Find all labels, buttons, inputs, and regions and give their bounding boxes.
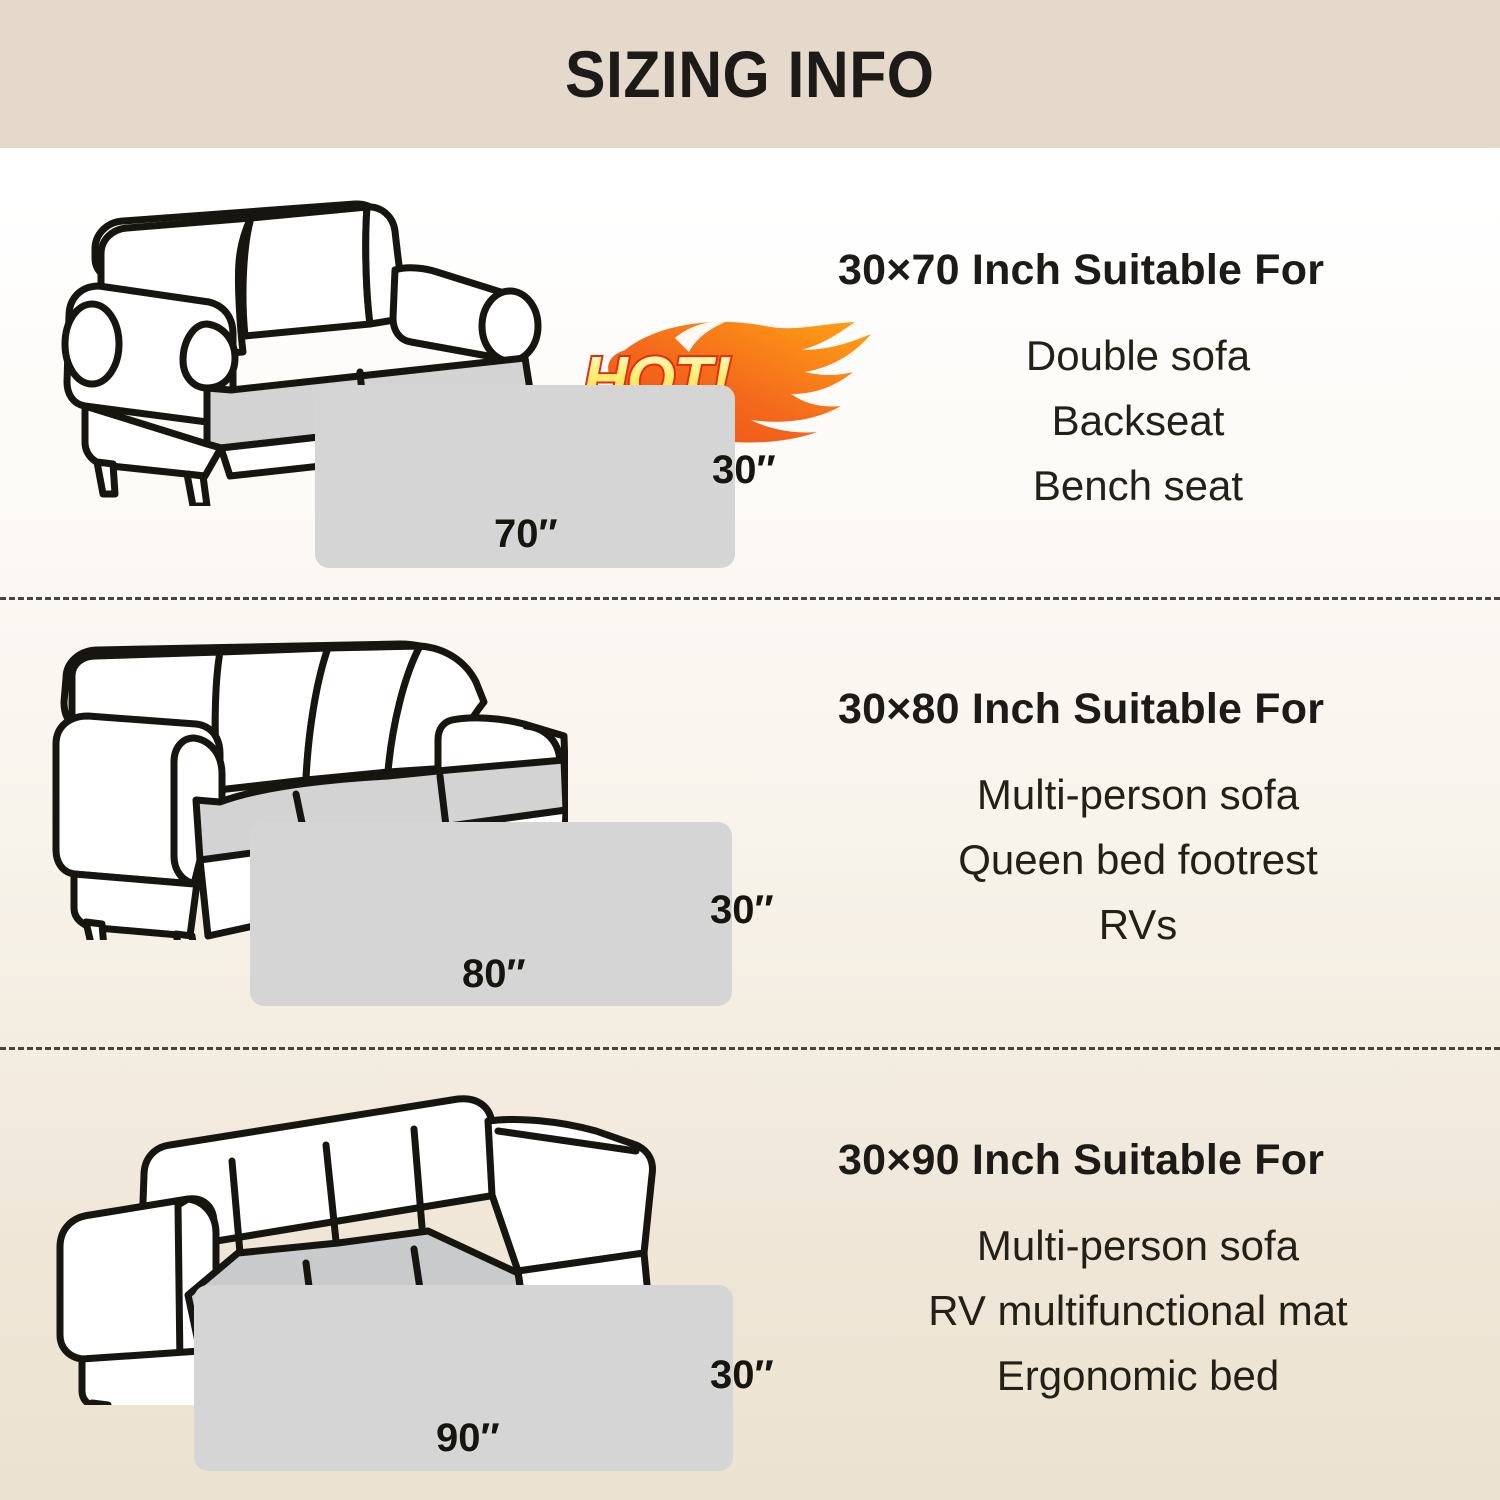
list-item: RVs	[838, 892, 1438, 957]
header-band: SIZING INFO	[0, 0, 1500, 148]
list-item: Backseat	[838, 388, 1438, 453]
dimension-height-label-30x90: 30″	[710, 1353, 774, 1398]
dimension-width-label-30x90: 90″	[436, 1416, 500, 1461]
text-block-30x80: 30×80 Inch Suitable For Multi-person sof…	[838, 685, 1438, 957]
list-item: Multi-person sofa	[838, 762, 1438, 827]
sizing-row-30x90: 30″ 90″ 30×90 Inch Suitable For Multi-pe…	[0, 1050, 1500, 1500]
list-item: RV multifunctional mat	[838, 1278, 1438, 1343]
use-list-30x90: Multi-person sofa RV multifunctional mat…	[838, 1213, 1438, 1408]
list-item: Bench seat	[838, 453, 1438, 518]
text-block-30x90: 30×90 Inch Suitable For Multi-person sof…	[838, 1136, 1438, 1408]
list-item: Double sofa	[838, 323, 1438, 388]
dimension-height-label-30x70: 30″	[712, 448, 776, 493]
sizing-row-30x80: 30″ 80″ 30×80 Inch Suitable For Multi-pe…	[0, 600, 1500, 1047]
list-item: Ergonomic bed	[838, 1343, 1438, 1408]
sizing-row-30x70: HOT! 30″ 70″ 30×70 Inch Suitable For Dou…	[0, 148, 1500, 597]
heading-30x80: 30×80 Inch Suitable For	[838, 685, 1438, 734]
page-title: SIZING INFO	[565, 36, 934, 112]
dimension-width-label-30x80: 80″	[462, 952, 526, 997]
sizing-info-infographic: SIZING INFO	[0, 0, 1500, 1500]
use-list-30x70: Double sofa Backseat Bench seat	[838, 323, 1438, 518]
use-list-30x80: Multi-person sofa Queen bed footrest RVs	[838, 762, 1438, 957]
dimension-width-label-30x70: 70″	[494, 512, 558, 557]
heading-30x90: 30×90 Inch Suitable For	[838, 1136, 1438, 1185]
list-item: Multi-person sofa	[838, 1213, 1438, 1278]
text-block-30x70: 30×70 Inch Suitable For Double sofa Back…	[838, 246, 1438, 518]
list-item: Queen bed footrest	[838, 827, 1438, 892]
dimension-height-label-30x80: 30″	[710, 888, 774, 933]
heading-30x70: 30×70 Inch Suitable For	[838, 246, 1438, 295]
